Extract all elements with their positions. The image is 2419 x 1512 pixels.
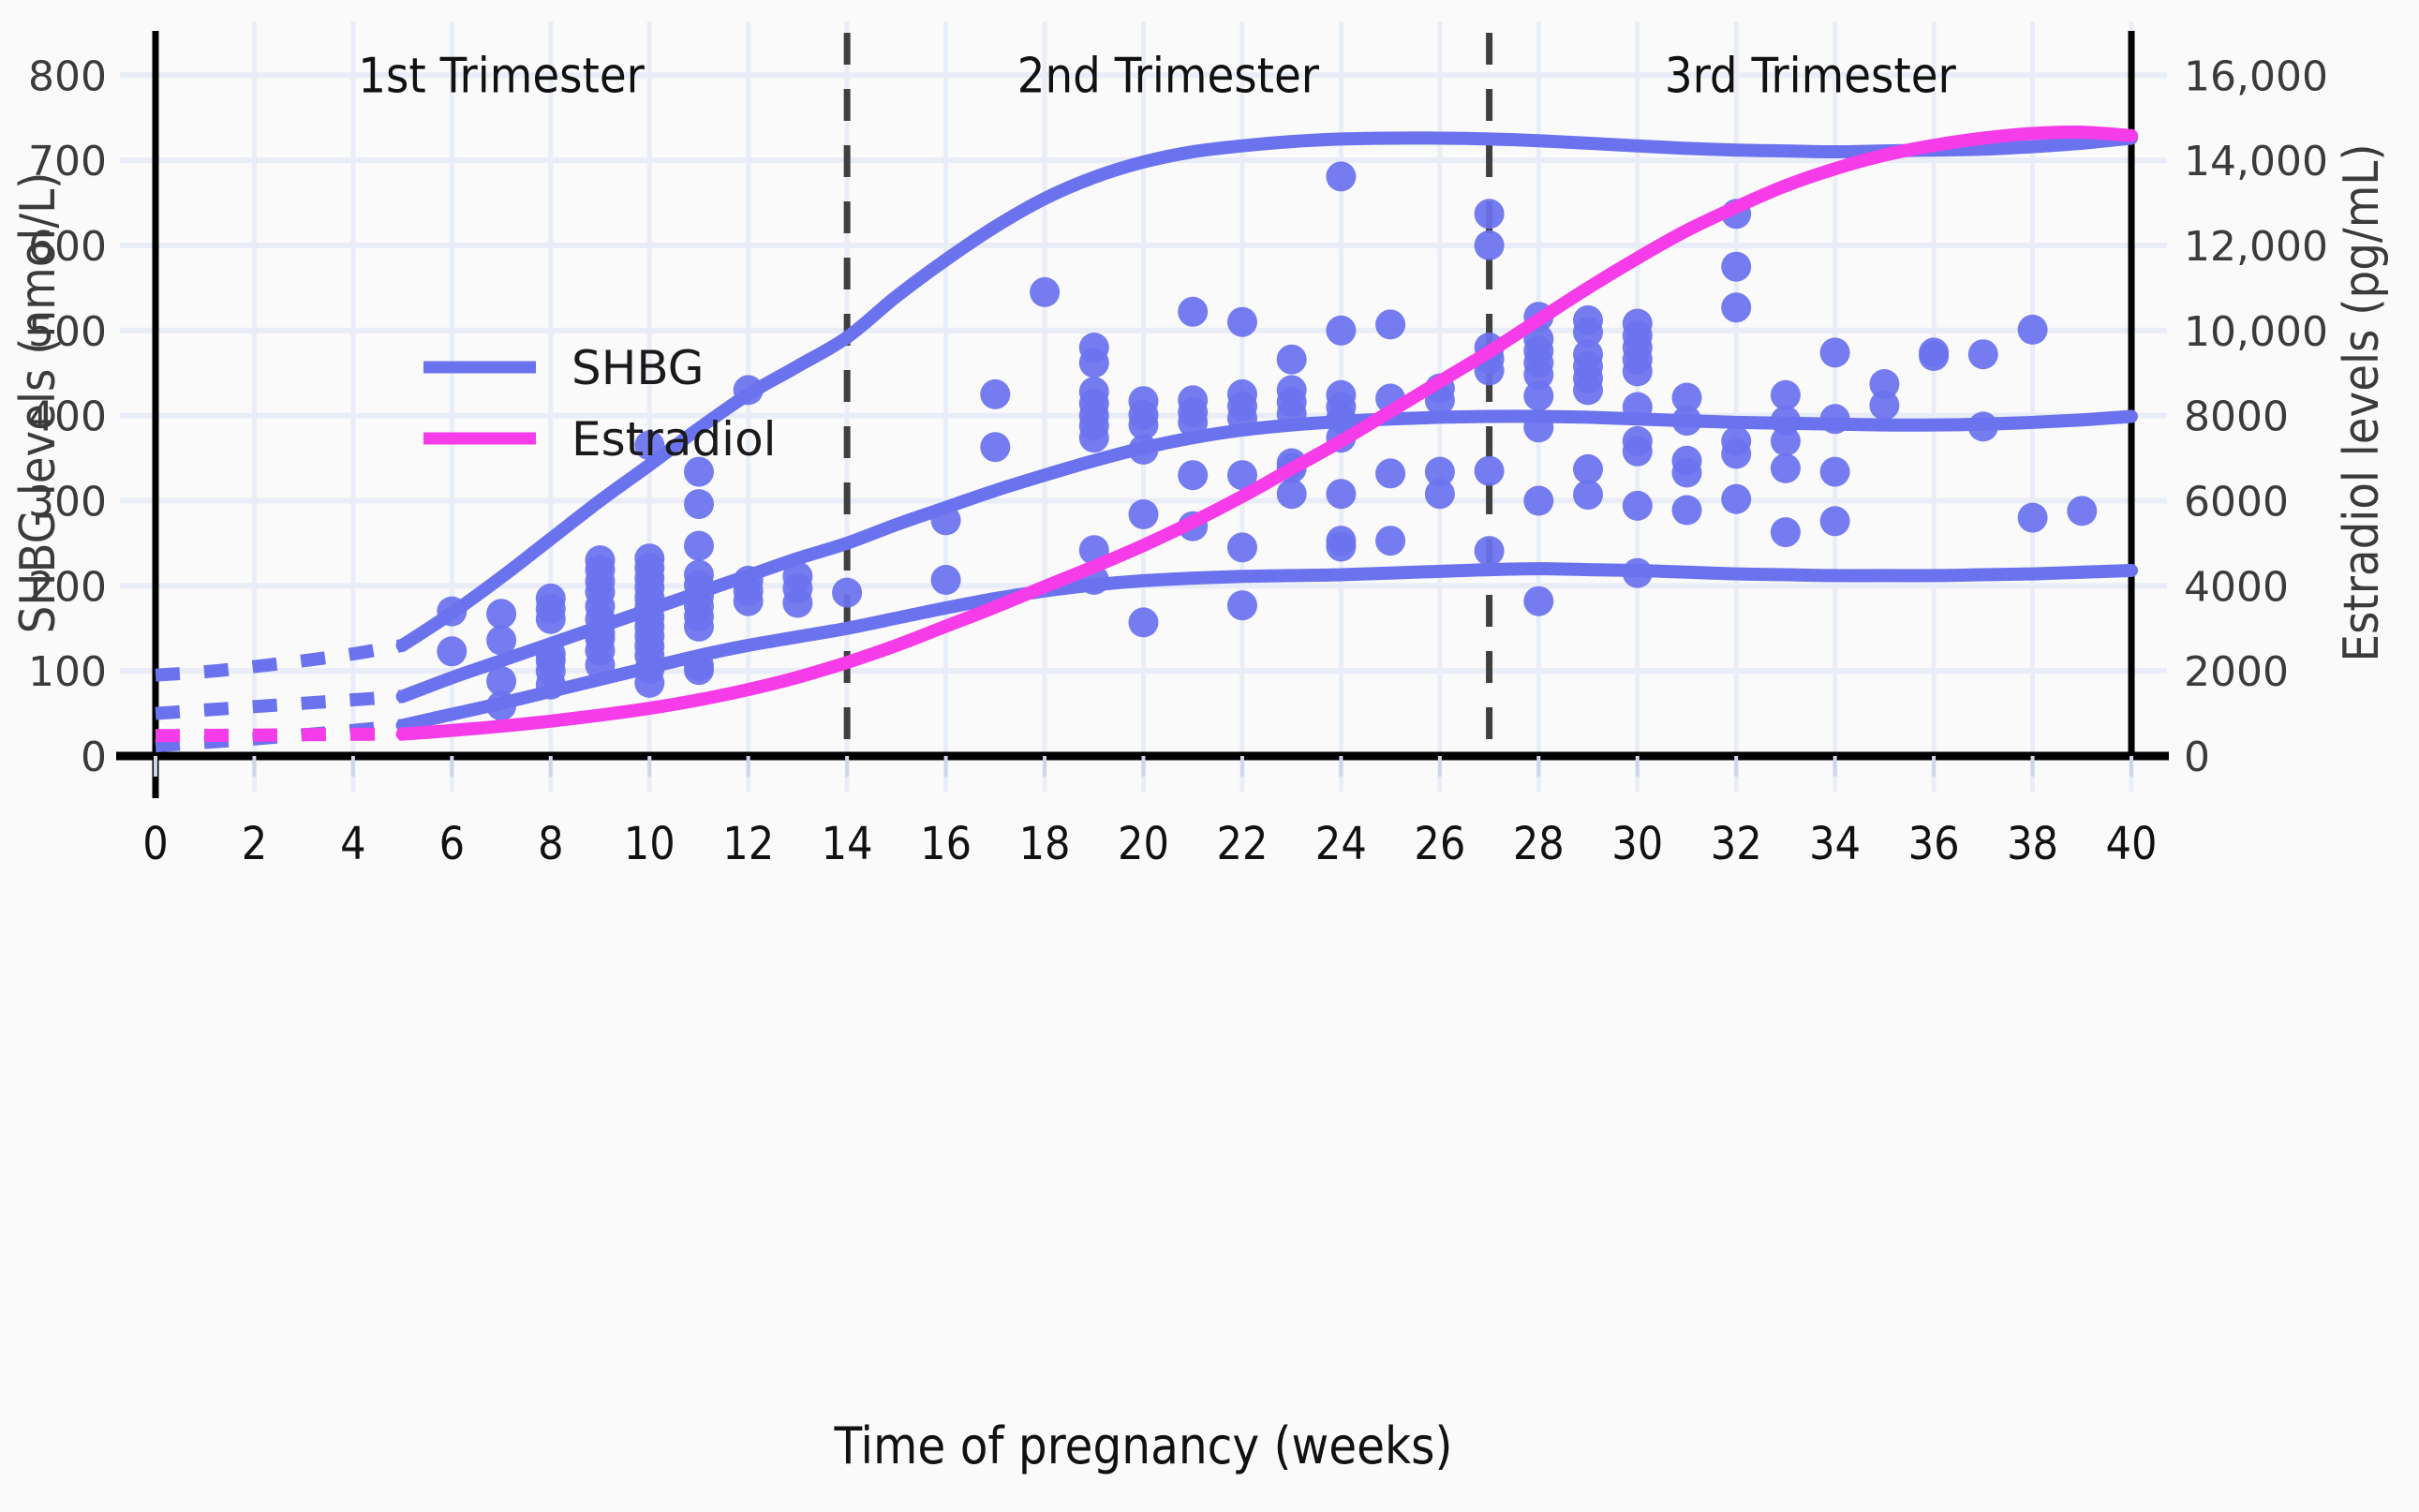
- scatter-point: [1968, 339, 1998, 369]
- scatter-point: [1277, 345, 1307, 375]
- scatter-point: [1623, 491, 1653, 521]
- scatter-point: [1573, 375, 1603, 405]
- y2-tick-label: 0: [2184, 734, 2210, 781]
- trimester-labels: 1st Trimester2nd Trimester3rd Trimester: [358, 48, 1956, 104]
- scatter-point: [1672, 458, 1702, 488]
- y2-tick-label: 2000: [2184, 648, 2289, 696]
- x-tick-label: 2: [242, 818, 267, 870]
- scatter-point: [2018, 503, 2048, 533]
- x-tick-label: 26: [1414, 818, 1465, 870]
- scatter-point: [1721, 252, 1751, 282]
- trimester-label: 2nd Trimester: [1017, 48, 1320, 104]
- scatter-point: [1178, 460, 1208, 490]
- scatter-point: [1326, 479, 1356, 509]
- scatter-point: [2067, 496, 2097, 526]
- scatter-point: [1227, 532, 1257, 562]
- scatter-point: [1820, 457, 1850, 487]
- scatter-point: [980, 432, 1010, 462]
- right-axis-title: Estradiol levels (pg/mL): [2334, 143, 2390, 661]
- scatter-point: [1523, 586, 1553, 616]
- scatter-point: [486, 599, 516, 629]
- scatter-point: [1771, 426, 1801, 456]
- scatter-point: [1771, 453, 1801, 483]
- scatter-point: [1820, 337, 1850, 367]
- x-tick-label: 34: [1809, 818, 1861, 870]
- scatter-point: [734, 586, 764, 616]
- scatter-point: [1721, 292, 1751, 322]
- scatter-point: [1375, 458, 1405, 488]
- legend-label-shbg[interactable]: SHBG: [571, 341, 705, 395]
- trimester-label: 1st Trimester: [358, 48, 645, 104]
- y-tick-label: 800: [28, 52, 107, 100]
- y-tick-label: 100: [28, 648, 107, 696]
- scatter-point: [1523, 381, 1553, 411]
- x-tick-label: 10: [624, 818, 675, 870]
- x-tick-label: 40: [2106, 818, 2158, 870]
- x-tick-label: 16: [920, 818, 972, 870]
- trimester-label: 3rd Trimester: [1665, 48, 1957, 104]
- x-tick-label: 8: [538, 818, 563, 870]
- scatter-point: [1573, 480, 1603, 510]
- scatter-point: [1079, 422, 1109, 452]
- y2-tick-label: 12,000: [2184, 223, 2328, 271]
- scatter-point: [1425, 479, 1455, 509]
- scatter-point: [931, 565, 961, 595]
- x-tick-label: 38: [2007, 818, 2058, 870]
- x-tick-label: 0: [142, 818, 168, 870]
- y2-tick-label: 10,000: [2184, 308, 2328, 356]
- scatter-point: [1623, 356, 1653, 386]
- scatter-point: [1227, 307, 1257, 337]
- scatter-point: [782, 588, 812, 618]
- scatter-point: [1326, 161, 1356, 191]
- scatter-point: [1771, 380, 1801, 410]
- scatter-point: [1326, 316, 1356, 346]
- scatter-point: [1475, 230, 1505, 260]
- y2-tick-label: 6000: [2184, 478, 2289, 526]
- x-tick-label: 4: [340, 818, 365, 870]
- scatter-point: [1672, 496, 1702, 526]
- y2-tick-label: 16,000: [2184, 52, 2328, 100]
- x-tick-label: 32: [1711, 818, 1762, 870]
- scatter-point: [684, 489, 714, 519]
- x-tick-label: 30: [1611, 818, 1663, 870]
- scatter-point: [1326, 532, 1356, 562]
- scatter-point: [1820, 506, 1850, 536]
- scatter-point: [832, 578, 862, 608]
- scatter-point: [1079, 348, 1109, 378]
- scatter-point: [536, 604, 566, 634]
- scatter-point: [1277, 479, 1307, 509]
- x-tick-label: 18: [1019, 818, 1071, 870]
- scatter-point: [1523, 486, 1553, 516]
- scatter-point: [1375, 309, 1405, 339]
- bottom-axis-title: Time of pregnancy (weeks): [834, 1416, 1453, 1475]
- scatter-point: [1129, 607, 1159, 637]
- scatter-point: [1030, 277, 1060, 307]
- scatter-point: [1623, 437, 1653, 467]
- scatter-point: [1227, 590, 1257, 620]
- scatter-line-chart: 0100200300400500600700800020004000600080…: [0, 0, 2419, 1512]
- left-axis-title: SHBG levels (nmol/L): [10, 172, 67, 634]
- x-tick-label: 6: [439, 818, 465, 870]
- scatter-point: [437, 636, 467, 666]
- y2-tick-label: 14,000: [2184, 138, 2328, 185]
- x-tick-label: 14: [822, 818, 873, 870]
- scatter-point: [684, 531, 714, 561]
- scatter-point: [1475, 536, 1505, 566]
- scatter-point: [1475, 456, 1505, 486]
- scatter-point: [1919, 341, 1949, 371]
- scatter-point: [1475, 199, 1505, 229]
- x-tick-label: 20: [1118, 818, 1169, 870]
- y-tick-label: 0: [81, 734, 107, 781]
- x-tick-label: 22: [1216, 818, 1268, 870]
- scatter-point: [1129, 499, 1159, 529]
- scatter-point: [1771, 517, 1801, 547]
- scatter-point: [1178, 297, 1208, 327]
- x-tick-label: 24: [1315, 818, 1367, 870]
- scatter-point: [1721, 484, 1751, 514]
- legend-label-estradiol[interactable]: Estradiol: [571, 412, 777, 467]
- x-tick-label: 36: [1908, 818, 1960, 870]
- y2-tick-label: 8000: [2184, 393, 2289, 441]
- scatter-point: [1721, 439, 1751, 469]
- scatter-point: [684, 612, 714, 642]
- scatter-point: [980, 379, 1010, 409]
- axis-ticks: [156, 756, 2131, 777]
- x-tick-label: 12: [722, 818, 774, 870]
- x-tick-label: 28: [1513, 818, 1565, 870]
- y2-tick-label: 4000: [2184, 563, 2289, 611]
- scatter-point: [1869, 391, 1899, 421]
- chart-container: 0100200300400500600700800020004000600080…: [0, 0, 2419, 1512]
- scatter-point: [1375, 526, 1405, 556]
- scatter-point: [2018, 315, 2048, 345]
